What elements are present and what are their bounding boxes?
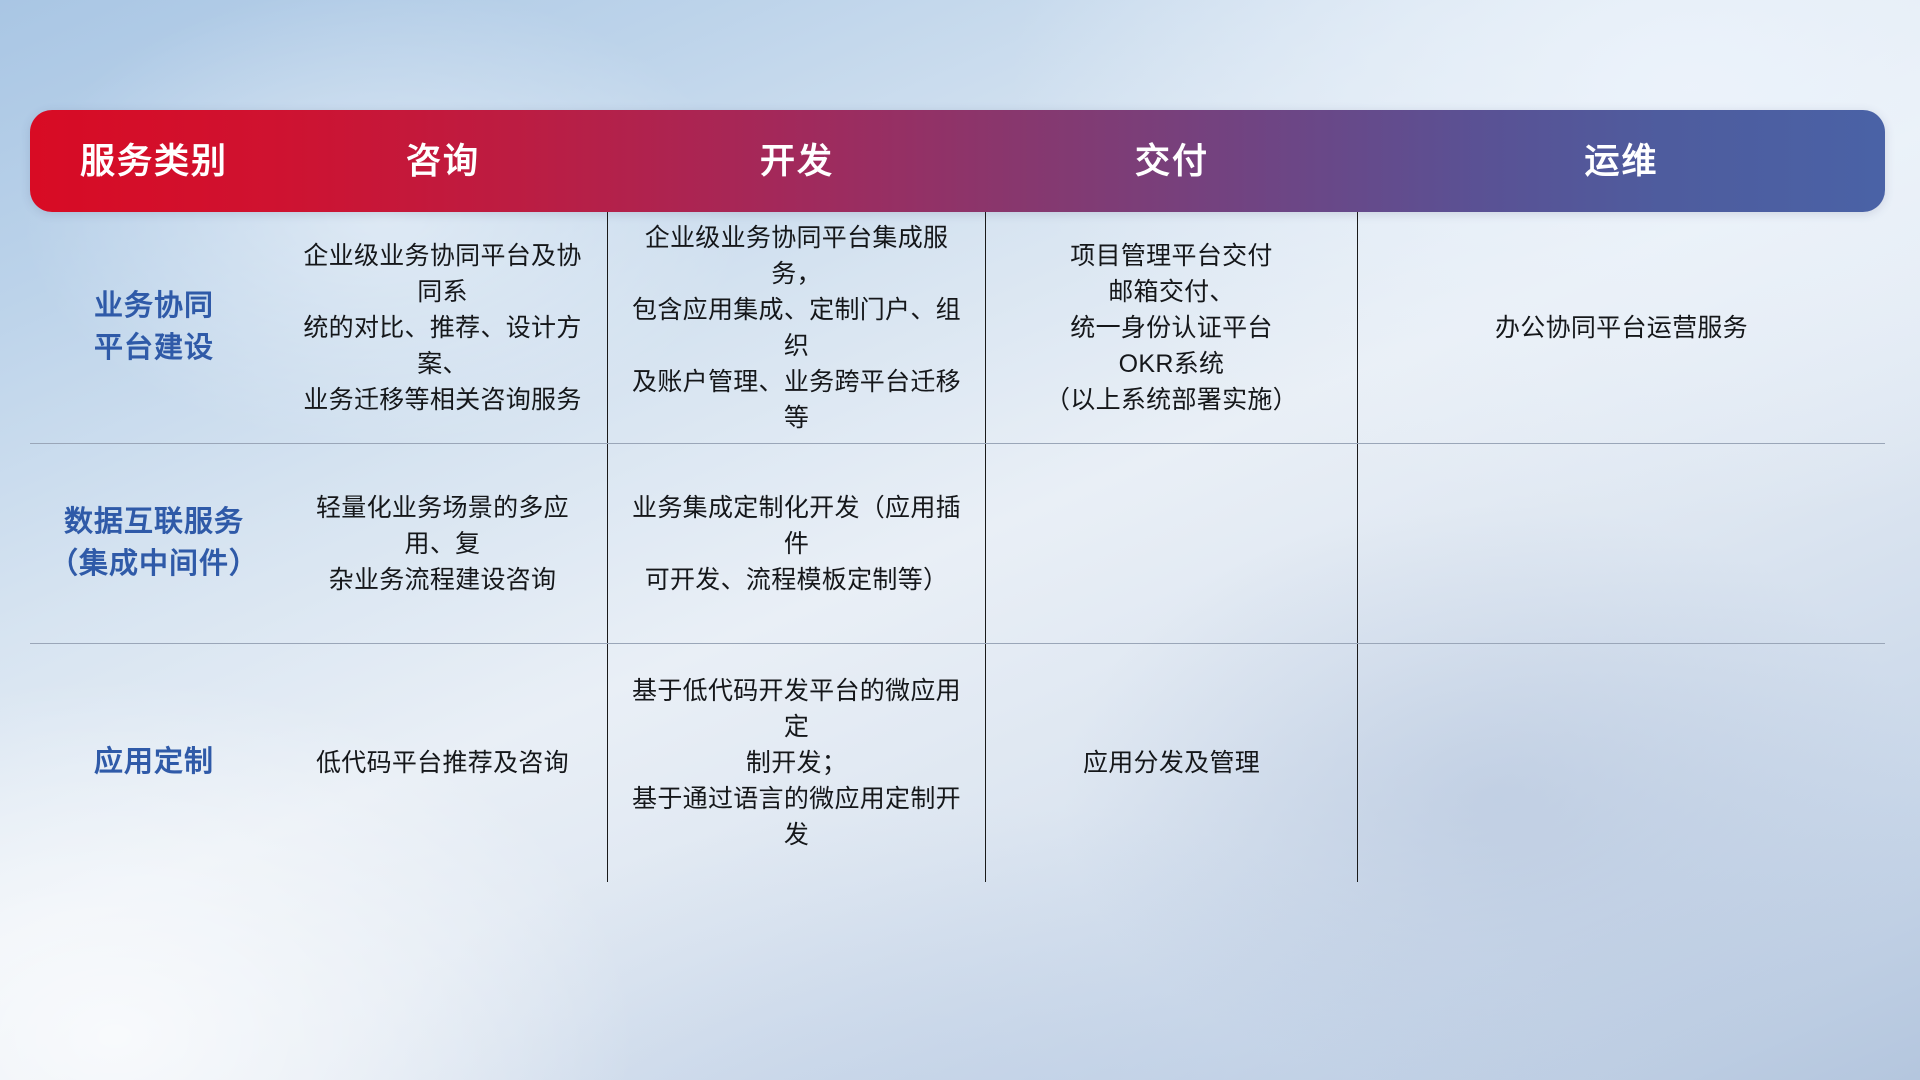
header-cell-operations: 运维	[1358, 144, 1885, 179]
cell-delivery: 项目管理平台交付 邮箱交付、 统一身份认证平台 OKR系统 （以上系统部署实施）	[986, 212, 1358, 443]
cell-operations: 办公协同平台运营服务	[1358, 212, 1885, 443]
header-cell-delivery: 交付	[986, 144, 1358, 179]
cell-consulting: 低代码平台推荐及咨询	[278, 644, 608, 882]
header-cell-service-category: 服务类别	[30, 144, 278, 179]
row-label-cell: 数据互联服务 （集成中间件）	[30, 444, 278, 643]
row-label-cell: 业务协同 平台建设	[30, 212, 278, 443]
cell-operations	[1358, 644, 1885, 882]
cell-text: 基于低代码开发平台的微应用定 制开发； 基于通过语言的微应用定制开发	[622, 673, 971, 853]
cell-delivery	[986, 444, 1358, 643]
cell-text: 应用分发及管理	[1083, 745, 1260, 781]
row-label-cell: 应用定制	[30, 644, 278, 882]
table-row: 应用定制 低代码平台推荐及咨询 基于低代码开发平台的微应用定 制开发； 基于通过…	[30, 644, 1885, 882]
cell-text: 轻量化业务场景的多应用、复 杂业务流程建设咨询	[292, 490, 593, 598]
table-row: 数据互联服务 （集成中间件） 轻量化业务场景的多应用、复 杂业务流程建设咨询 业…	[30, 444, 1885, 644]
cell-delivery: 应用分发及管理	[986, 644, 1358, 882]
cell-consulting: 企业级业务协同平台及协同系 统的对比、推荐、设计方案、 业务迁移等相关咨询服务	[278, 212, 608, 443]
service-category-table: 服务类别 咨询 开发 交付 运维 业务协同 平台建设 企业级业务协同平台及协同系…	[30, 110, 1885, 955]
cell-development: 业务集成定制化开发（应用插件 可开发、流程模板定制等）	[608, 444, 986, 643]
row-label: 数据互联服务 （集成中间件）	[49, 502, 259, 584]
row-label: 应用定制	[94, 742, 214, 783]
cell-text: 低代码平台推荐及咨询	[316, 745, 569, 781]
cell-text: 项目管理平台交付 邮箱交付、 统一身份认证平台 OKR系统 （以上系统部署实施）	[1045, 238, 1298, 418]
cell-development: 基于低代码开发平台的微应用定 制开发； 基于通过语言的微应用定制开发	[608, 644, 986, 882]
cell-operations	[1358, 444, 1885, 643]
header-cell-consulting: 咨询	[278, 144, 608, 179]
cell-text: 企业级业务协同平台集成服务， 包含应用集成、定制门户、组织 及账户管理、业务跨平…	[622, 220, 971, 436]
row-label: 业务协同 平台建设	[94, 286, 214, 368]
table-row: 业务协同 平台建设 企业级业务协同平台及协同系 统的对比、推荐、设计方案、 业务…	[30, 212, 1885, 444]
cell-consulting: 轻量化业务场景的多应用、复 杂业务流程建设咨询	[278, 444, 608, 643]
header-cell-development: 开发	[608, 144, 986, 179]
cell-text: 办公协同平台运营服务	[1495, 310, 1748, 346]
table-body: 业务协同 平台建设 企业级业务协同平台及协同系 统的对比、推荐、设计方案、 业务…	[30, 212, 1885, 882]
cell-text: 业务集成定制化开发（应用插件 可开发、流程模板定制等）	[622, 490, 971, 598]
table-header-row: 服务类别 咨询 开发 交付 运维	[30, 110, 1885, 212]
cell-text: 企业级业务协同平台及协同系 统的对比、推荐、设计方案、 业务迁移等相关咨询服务	[292, 238, 593, 418]
cell-development: 企业级业务协同平台集成服务， 包含应用集成、定制门户、组织 及账户管理、业务跨平…	[608, 212, 986, 443]
